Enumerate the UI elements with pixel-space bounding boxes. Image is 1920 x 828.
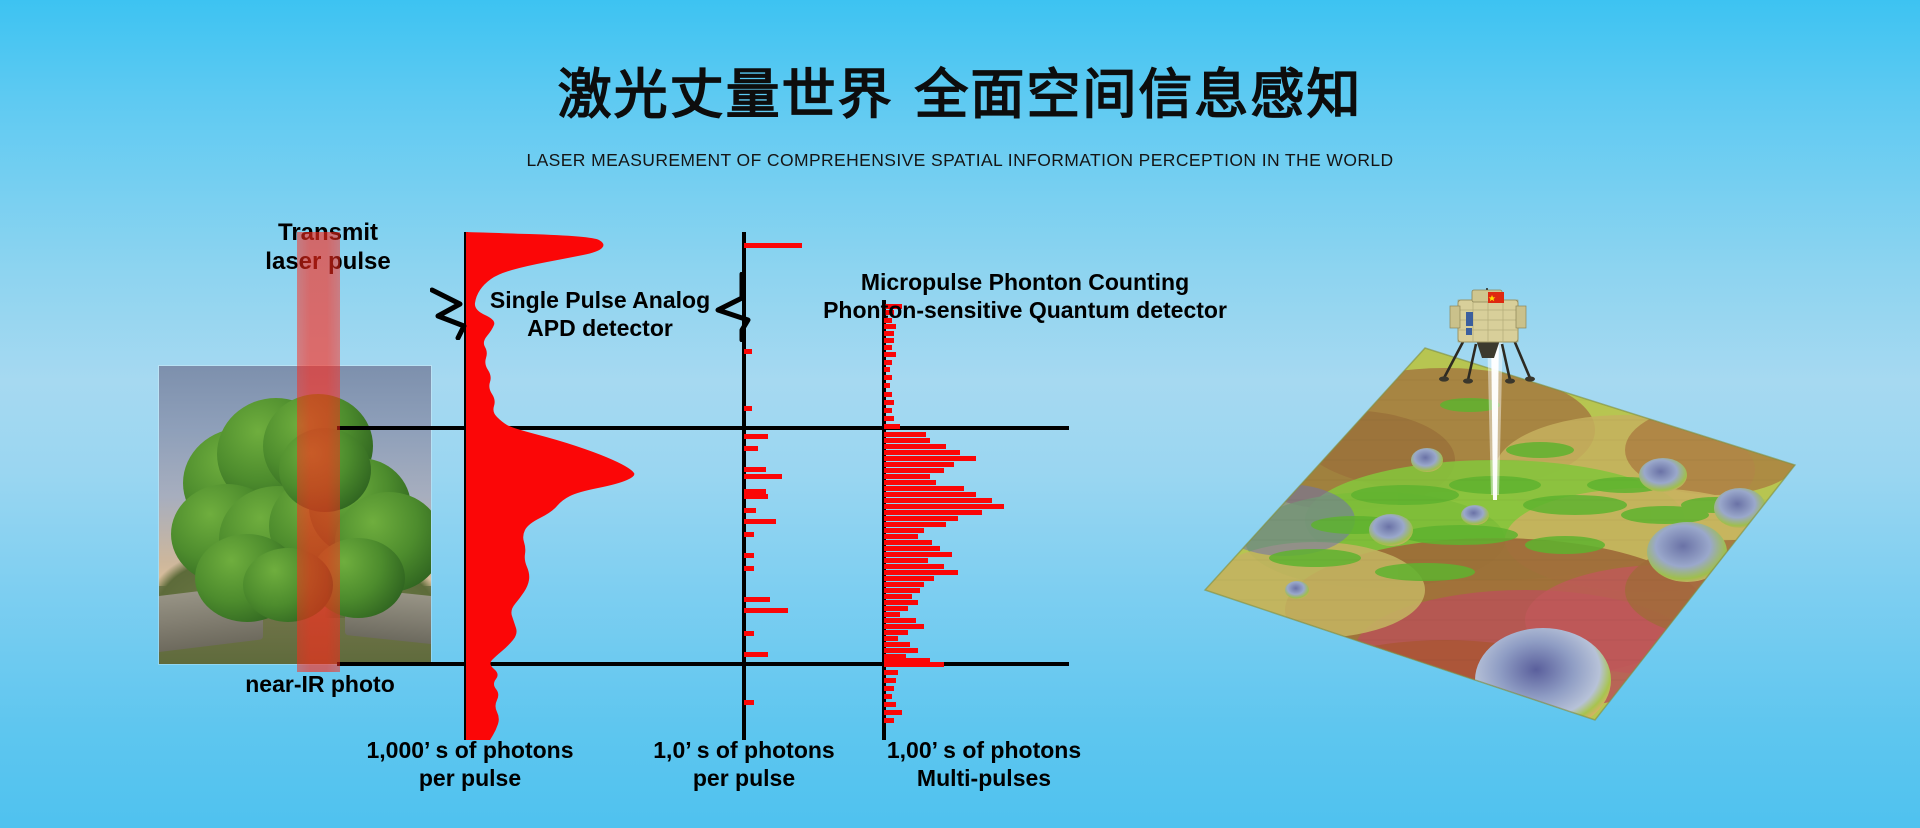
crater	[1639, 458, 1687, 492]
histogram-bar	[884, 612, 900, 617]
poster-canvas: 激光丈量世界 全面空间信息感知 LASER MEASUREMENT OF COM…	[0, 0, 1920, 828]
caption-c-line2: Multi-pulses	[876, 764, 1092, 792]
histogram-bar	[884, 678, 896, 683]
histogram-bar	[884, 474, 930, 479]
histogram-bar	[884, 498, 992, 503]
caption-b-line1: 1,0’ s of photons	[638, 736, 850, 764]
histogram-bar	[884, 416, 894, 421]
histogram-bar	[884, 718, 894, 723]
histogram-bar	[744, 494, 768, 499]
histogram-bar	[884, 360, 892, 365]
caption-single-pulse-analog: 1,000’ s of photons per pulse	[360, 736, 580, 792]
histogram-bar	[744, 349, 752, 354]
histogram-bar	[884, 710, 902, 715]
histogram-bar	[884, 468, 944, 473]
histogram-bar	[744, 597, 770, 602]
histogram-bar	[884, 702, 896, 707]
histogram-bar	[884, 642, 910, 647]
histogram-bar	[744, 406, 752, 411]
histogram-bar	[744, 243, 802, 248]
label-micropulse-photon-counting: Micropulse Phonton Counting Phonton-sens…	[810, 268, 1240, 324]
histogram-bar	[744, 553, 754, 558]
histogram-bar	[884, 576, 934, 581]
histogram-bar	[884, 444, 946, 449]
histogram-bar	[884, 510, 982, 515]
histogram-bar	[884, 456, 976, 461]
histogram-bar	[884, 504, 1004, 509]
histogram-bar	[884, 686, 894, 691]
histogram-bar	[884, 624, 924, 629]
histogram-bar	[744, 652, 768, 657]
caption-c-line1: 1,00’ s of photons	[876, 736, 1092, 764]
histogram-bar	[744, 631, 754, 636]
crater	[1475, 628, 1611, 732]
histogram-bar	[884, 546, 940, 551]
histogram-bar	[884, 540, 932, 545]
histogram-bar	[884, 522, 946, 527]
histogram-bar	[744, 608, 788, 613]
label-detector-a-line1: Single Pulse Analog	[450, 286, 750, 314]
histogram-bar	[884, 606, 908, 611]
histogram-bar	[884, 558, 928, 563]
histogram-bar	[884, 392, 892, 397]
histogram-bar	[744, 508, 756, 513]
label-single-pulse-analog-apd: Single Pulse Analog APD detector	[450, 286, 750, 342]
crater	[1369, 514, 1413, 546]
histogram-bar	[884, 594, 912, 599]
histogram-bar	[884, 480, 936, 485]
label-detector-c-line2: Phonton-sensitive Quantum detector	[810, 296, 1240, 324]
histogram-bar	[884, 400, 894, 405]
crater	[1411, 448, 1443, 472]
histogram-bar	[884, 486, 964, 491]
histogram-bar	[884, 528, 924, 533]
histogram-bar	[744, 434, 768, 439]
label-detector-c-line1: Micropulse Phonton Counting	[810, 268, 1240, 296]
histogram-bar	[884, 694, 892, 699]
histogram-bar	[884, 618, 916, 623]
caption-a-line2: per pulse	[360, 764, 580, 792]
caption-a-line1: 1,000’ s of photons	[360, 736, 580, 764]
histogram-bar	[884, 331, 894, 336]
histogram-bar	[884, 438, 930, 443]
histogram-bar	[884, 424, 900, 429]
histogram-bar	[884, 492, 976, 497]
caption-sparse-photon: 1,0’ s of photons per pulse	[638, 736, 850, 792]
histogram-bar	[884, 324, 896, 329]
crater	[1285, 581, 1309, 599]
histogram-bar	[744, 519, 776, 524]
histogram-bar	[884, 570, 958, 575]
histogram-bar	[744, 446, 758, 451]
caption-micropulse: 1,00’ s of photons Multi-pulses	[876, 736, 1092, 792]
histogram-bar	[884, 367, 890, 372]
histogram-bar	[884, 432, 926, 437]
histogram-bar	[744, 474, 782, 479]
histogram-bar	[884, 383, 890, 388]
histogram-bar	[884, 662, 944, 667]
histogram-bar	[884, 630, 908, 635]
histogram-bar	[744, 467, 766, 472]
crater	[1647, 522, 1727, 582]
histogram-bar	[884, 462, 954, 467]
histogram-bar	[884, 648, 918, 653]
histogram-bar	[884, 352, 896, 357]
label-near-ir-photo: near-IR photo	[210, 670, 430, 698]
histogram-bar	[744, 700, 754, 705]
histogram-bar	[884, 588, 920, 593]
histogram-bar	[884, 670, 898, 675]
histogram-bar	[884, 375, 892, 380]
label-near-ir-photo-text: near-IR photo	[245, 671, 395, 697]
histogram-bar	[884, 636, 898, 641]
histogram-bar	[884, 338, 894, 343]
histogram-bar	[744, 566, 754, 571]
histogram-bar	[884, 516, 958, 521]
histogram-bar	[884, 450, 960, 455]
caption-b-line2: per pulse	[638, 764, 850, 792]
lunar-lander	[1432, 288, 1542, 388]
histogram-bar	[884, 600, 918, 605]
histogram-bar	[884, 534, 918, 539]
crater	[1461, 505, 1489, 525]
histogram-bar	[884, 582, 924, 587]
histogram-bar	[744, 532, 754, 537]
histogram-bar	[884, 408, 892, 413]
histogram-bar	[884, 345, 892, 350]
crater	[1714, 488, 1766, 528]
histogram-bar	[884, 552, 952, 557]
laser-beam	[297, 232, 340, 672]
histogram-bar	[884, 564, 944, 569]
label-detector-a-line2: APD detector	[450, 314, 750, 342]
